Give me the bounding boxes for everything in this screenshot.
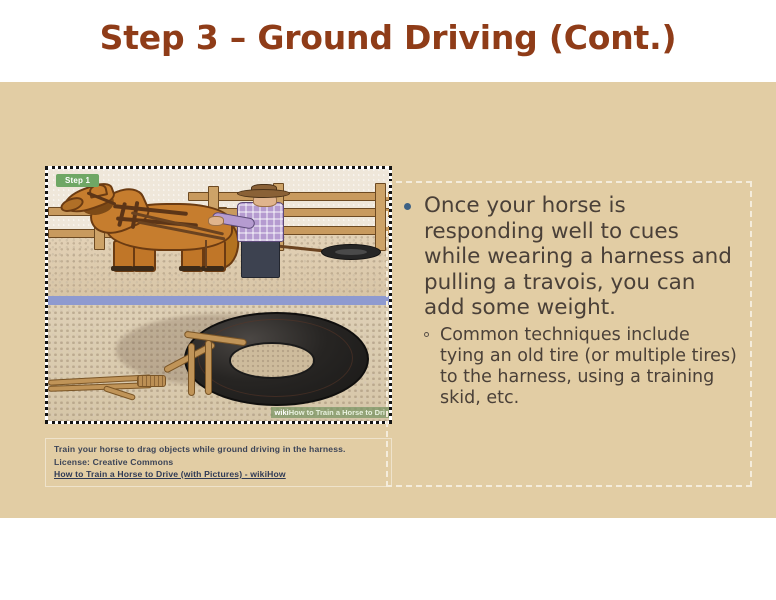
sub-bullet-list: Common techniques include tying an old t…	[416, 325, 738, 409]
page-title: Step 3 – Ground Driving (Cont.)	[0, 18, 776, 57]
tire-small	[321, 244, 381, 260]
content-textbox: Once your horse is responding well to cu…	[386, 181, 752, 487]
rein-line	[205, 240, 234, 268]
step-badge: Step 1	[56, 174, 99, 187]
slide-page: Step 3 – Ground Driving (Cont.)	[0, 0, 776, 600]
scene-tire-closeup: wikiHow to Train a Horse to Dri	[48, 305, 389, 421]
caption-description: Train your horse to drag objects while g…	[54, 443, 385, 456]
rope-strand	[205, 340, 212, 395]
image-caption: Train your horse to drag objects while g…	[45, 438, 392, 487]
watermark-brand: wiki	[275, 408, 289, 417]
person-hand	[208, 216, 224, 226]
bullet-item-secondary: Common techniques include tying an old t…	[416, 325, 738, 409]
rope-strand	[188, 343, 195, 396]
horse-hoof	[179, 266, 201, 271]
panel-separator	[48, 296, 389, 305]
illustration-image: Step 1 wikiHow to Train a Horse to Dri	[45, 166, 392, 424]
horse-hoof	[111, 266, 133, 271]
tire-center-hole	[229, 342, 315, 378]
wikihow-watermark: wikiHow to Train a Horse to Dri	[271, 407, 389, 418]
bullet-item-primary: Once your horse is responding well to cu…	[398, 193, 738, 321]
rope-knot	[137, 375, 166, 387]
caption-license: License: Creative Commons	[54, 456, 385, 469]
fence-post	[375, 183, 386, 251]
illustration-canvas: Step 1 wikiHow to Train a Horse to Dri	[48, 169, 389, 421]
watermark-text: How to Train a Horse to Dri	[289, 408, 385, 417]
person-legs	[241, 238, 281, 278]
caption-source-link[interactable]: How to Train a Horse to Drive (with Pict…	[54, 468, 385, 481]
horse-hoof	[132, 266, 154, 271]
bullet-list: Once your horse is responding well to cu…	[398, 193, 738, 409]
scene-paddock: Step 1	[48, 169, 389, 296]
